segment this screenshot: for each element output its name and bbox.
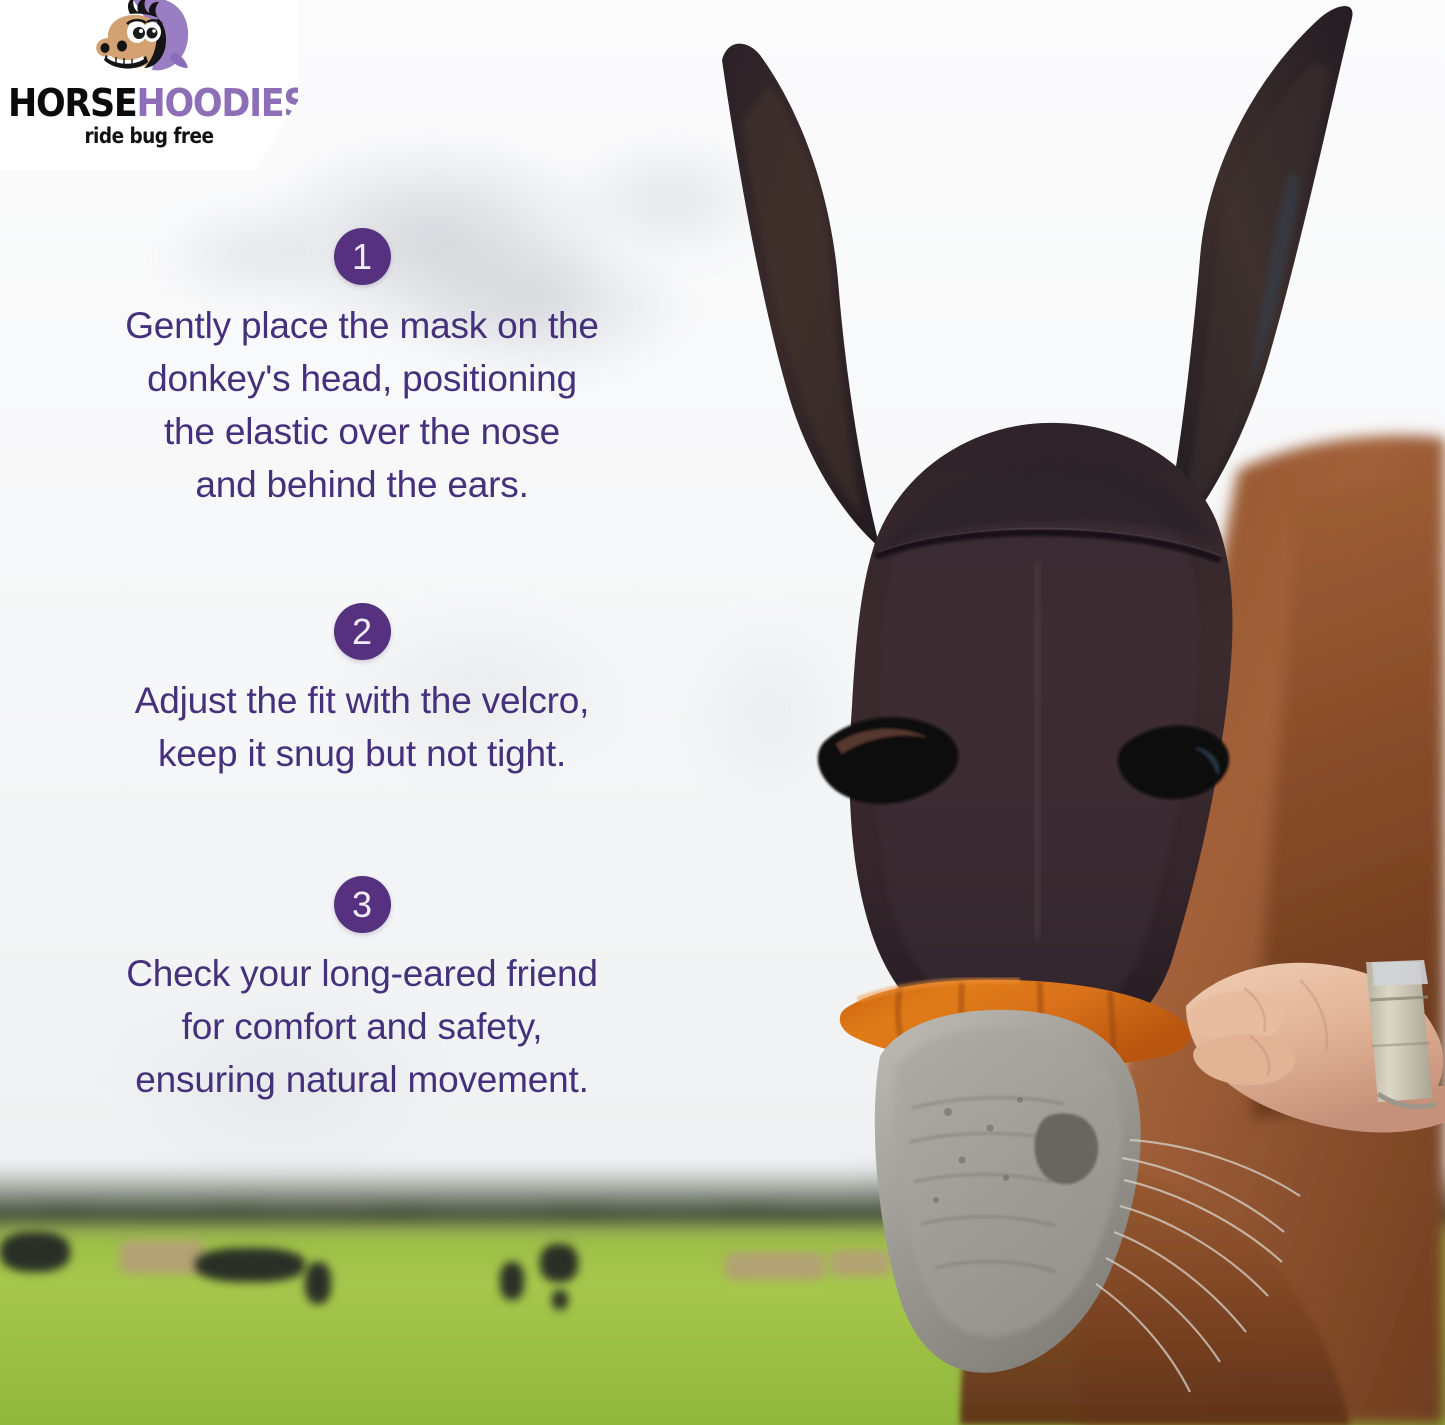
brand-name-part1: HORSE <box>8 81 137 125</box>
step-3-badge: 3 <box>334 876 391 933</box>
brand-logo-card: HORSEHOODIES ride bug free <box>0 0 298 170</box>
brand-wordmark: HORSEHOODIES <box>8 84 267 122</box>
step-1-text: Gently place the mask on the donkey's he… <box>0 299 724 511</box>
step-2: 2 Adjust the fit with the velcro, keep i… <box>0 603 724 780</box>
step-1-badge: 1 <box>334 228 391 285</box>
infographic-canvas: HORSEHOODIES ride bug free 1 Gently plac… <box>0 0 1445 1425</box>
brand-name-part2: HOODIES <box>137 81 308 125</box>
step-2-badge: 2 <box>334 603 391 660</box>
horse-head-hood-icon <box>78 0 196 86</box>
brand-tagline: ride bug free <box>25 126 273 147</box>
step-3-text: Check your long-eared friend for comfort… <box>0 947 724 1106</box>
step-2-text: Adjust the fit with the velcro, keep it … <box>0 674 724 780</box>
step-1: 1 Gently place the mask on the donkey's … <box>0 228 724 511</box>
step-3: 3 Check your long-eared friend for comfo… <box>0 876 724 1106</box>
